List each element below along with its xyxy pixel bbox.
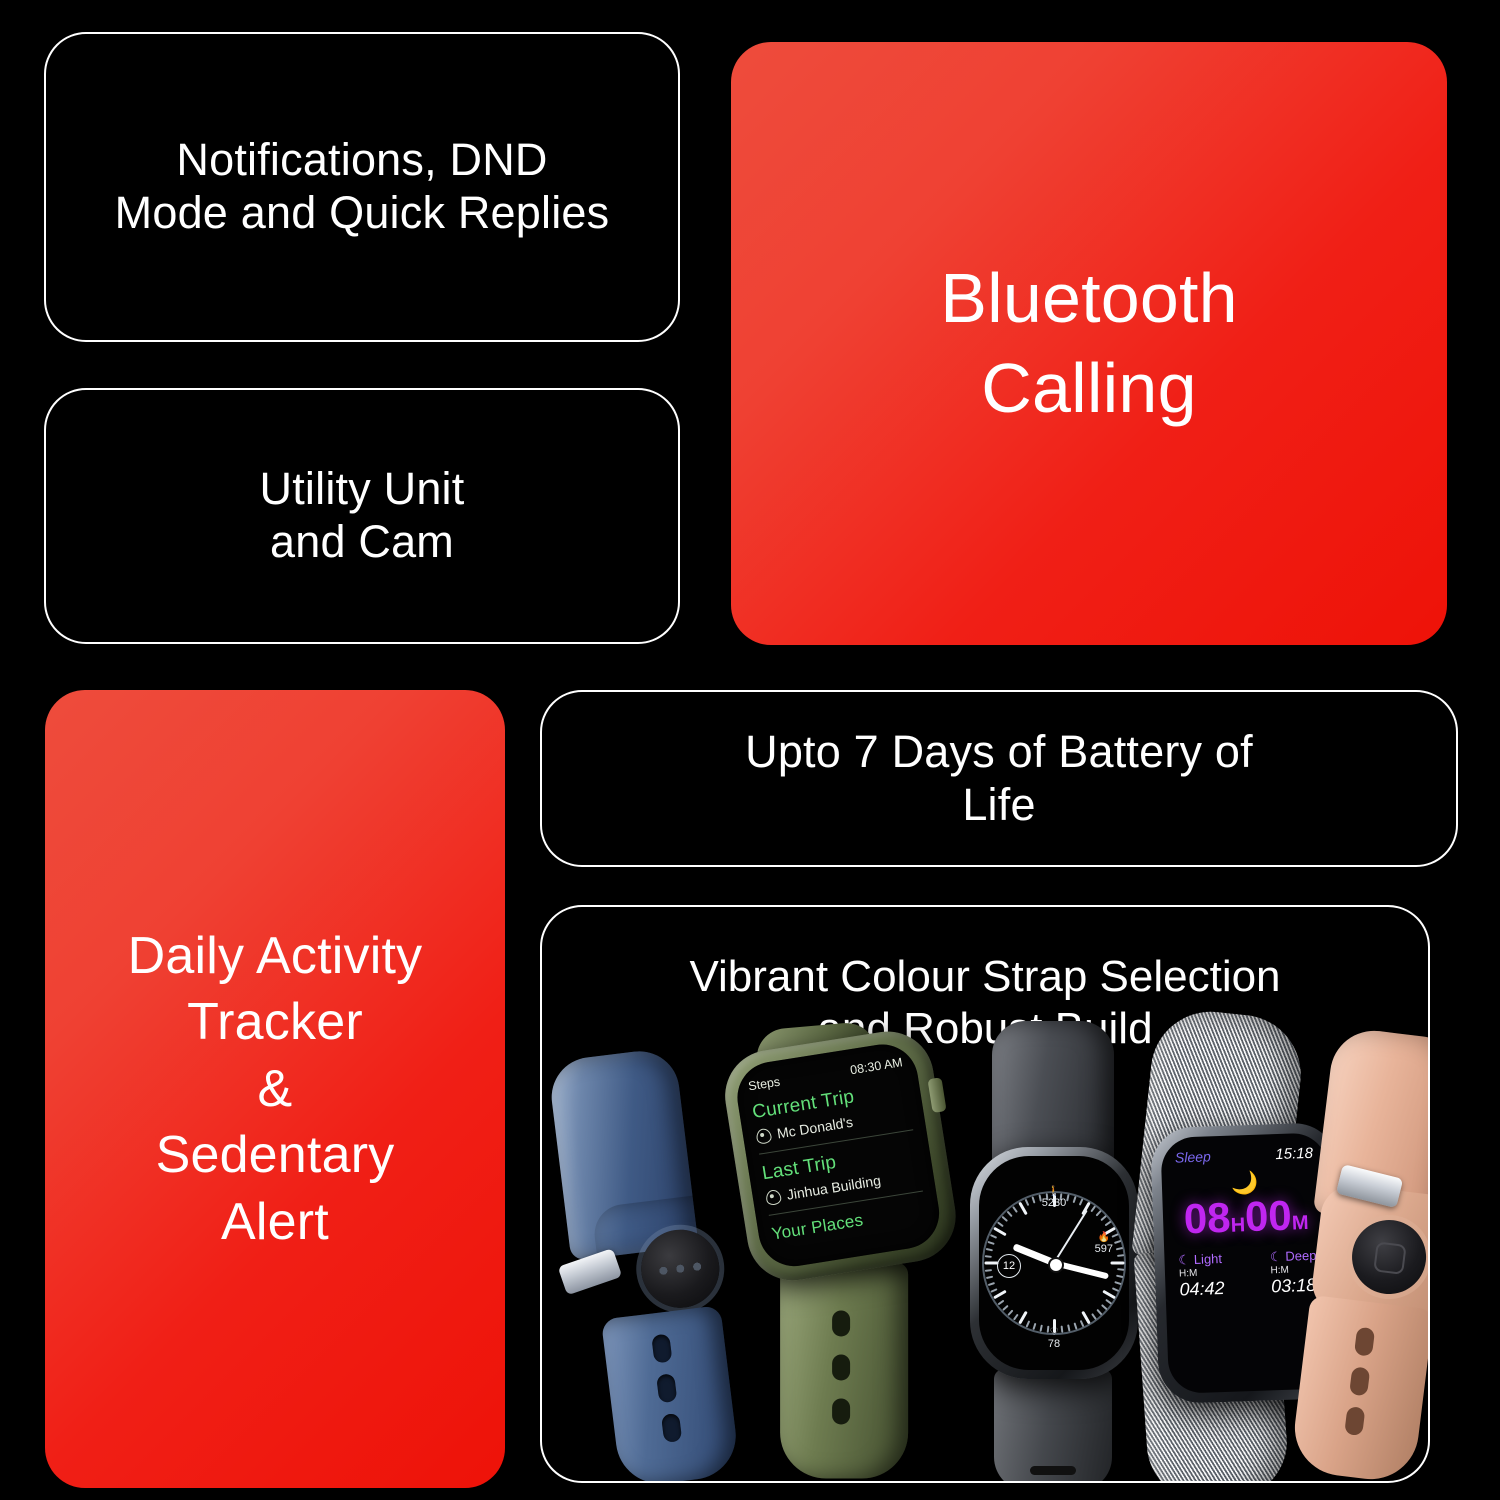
sleep-light-label: Light bbox=[1194, 1251, 1223, 1267]
feature-card-notifications-title: Notifications, DNDMode and Quick Replies bbox=[97, 134, 628, 239]
watch-blue-charging-dots-icon bbox=[657, 1261, 704, 1277]
feature-card-bluetooth: BluetoothCalling bbox=[731, 42, 1447, 645]
sleep-title: Sleep bbox=[1175, 1148, 1211, 1165]
feature-card-strap: Vibrant Colour Strap Selectionand Robust… bbox=[540, 905, 1430, 1483]
feature-card-bluetooth-title: BluetoothCalling bbox=[922, 254, 1256, 433]
steps-complication: 🚶 5230 bbox=[1042, 1186, 1066, 1209]
feature-card-activity-title: Daily ActivityTracker&SedentaryAlert bbox=[110, 923, 441, 1256]
smartwatch-lineup-image: Steps 08:30 AM Current Trip Mc Donald's … bbox=[542, 1027, 1430, 1483]
watch-blue-strap-lower bbox=[601, 1305, 741, 1483]
watch-pink-strap-lower bbox=[1289, 1295, 1430, 1483]
feature-grid: Notifications, DNDMode and Quick Replies… bbox=[0, 0, 1500, 1500]
steps-icon: 🚶 bbox=[1042, 1186, 1066, 1197]
green-status-time: 08:30 AM bbox=[849, 1055, 903, 1077]
heart-icon: ♡ bbox=[1048, 1327, 1060, 1338]
sleep-light-block: ☾ Light H:M 04:42 bbox=[1178, 1251, 1225, 1301]
feature-card-battery: Upto 7 Days of Battery ofLife bbox=[540, 690, 1458, 867]
dial-hub bbox=[1048, 1257, 1064, 1273]
watch-green-screen: Steps 08:30 AM Current Trip Mc Donald's … bbox=[732, 1039, 944, 1271]
location-pin-icon bbox=[755, 1127, 772, 1144]
date-complication: 12 bbox=[997, 1254, 1021, 1278]
feature-card-utility: Utility Unitand Cam bbox=[44, 388, 680, 644]
heart-rate-value: 78 bbox=[1048, 1338, 1060, 1350]
green-status-steps-label: Steps bbox=[747, 1075, 781, 1094]
sleep-light-value: 04:42 bbox=[1179, 1278, 1225, 1301]
location-pin-icon bbox=[765, 1188, 782, 1205]
feature-card-activity: Daily ActivityTracker&SedentaryAlert bbox=[45, 690, 505, 1488]
sleep-hours: 08 bbox=[1183, 1194, 1231, 1243]
feature-card-utility-title: Utility Unitand Cam bbox=[242, 463, 483, 568]
heart-rate-complication: ♡ 78 bbox=[1048, 1327, 1060, 1350]
green-your-places-link[interactable]: Your Places bbox=[770, 1200, 927, 1244]
sleep-hours-unit: H bbox=[1230, 1214, 1245, 1236]
moon-icon: ☾ bbox=[1178, 1252, 1190, 1267]
feature-card-battery-title: Upto 7 Days of Battery ofLife bbox=[727, 726, 1271, 831]
steps-value: 5230 bbox=[1042, 1197, 1066, 1209]
watch-black-strap-lower bbox=[994, 1369, 1112, 1483]
watch-green-strap-lower bbox=[780, 1262, 908, 1478]
feature-card-notifications: Notifications, DNDMode and Quick Replies bbox=[44, 32, 680, 342]
